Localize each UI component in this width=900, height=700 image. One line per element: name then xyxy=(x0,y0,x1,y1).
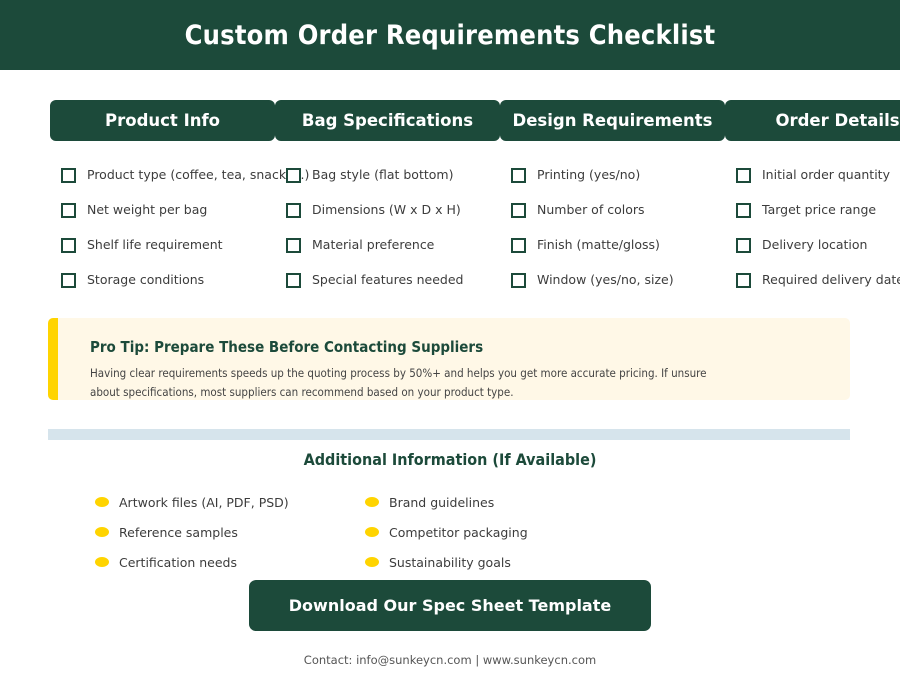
checkbox-icon[interactable] xyxy=(511,273,526,288)
column-header-design-requirements: Design Requirements xyxy=(500,100,725,141)
column-header-product-info: Product Info xyxy=(50,100,275,141)
checkbox-icon[interactable] xyxy=(61,273,76,288)
checklist-item[interactable]: Finish (matte/gloss) xyxy=(500,237,725,253)
list-item[interactable]: Reference samples xyxy=(95,517,365,547)
list-item-label: Certification needs xyxy=(119,555,237,570)
checklist-item-label: Dimensions (W x D x H) xyxy=(312,202,461,218)
bullet-dot-icon xyxy=(95,497,109,507)
bullet-dot-icon xyxy=(365,527,379,537)
pro-tip-accent-bar xyxy=(48,318,58,400)
checkbox-icon[interactable] xyxy=(286,273,301,288)
checklist-item[interactable]: Target price range xyxy=(725,202,900,218)
list-item-label: Reference samples xyxy=(119,525,238,540)
checklist-item-label: Printing (yes/no) xyxy=(537,167,640,183)
checklist-item[interactable]: Dimensions (W x D x H) xyxy=(275,202,500,218)
checkbox-icon[interactable] xyxy=(736,168,751,183)
checklist-item[interactable]: Window (yes/no, size) xyxy=(500,272,725,288)
bullet-dot-icon xyxy=(95,527,109,537)
column-items-design-requirements: Printing (yes/no) Number of colors Finis… xyxy=(500,167,725,288)
checklist-item-label: Required delivery date xyxy=(762,272,900,288)
checklist-item-label: Shelf life requirement xyxy=(87,237,223,253)
page-title: Custom Order Requirements Checklist xyxy=(185,20,716,51)
bullet-dot-icon xyxy=(95,557,109,567)
checklist-item[interactable]: Printing (yes/no) xyxy=(500,167,725,183)
list-item[interactable]: Artwork files (AI, PDF, PSD) xyxy=(95,487,365,517)
checkbox-icon[interactable] xyxy=(61,203,76,218)
checklist-item-label: Target price range xyxy=(762,202,876,218)
checkbox-icon[interactable] xyxy=(511,168,526,183)
checklist-item-label: Material preference xyxy=(312,237,434,253)
checkbox-icon[interactable] xyxy=(736,203,751,218)
section-divider xyxy=(48,429,850,440)
checklist-item-label: Delivery location xyxy=(762,237,867,253)
bullet-dot-icon xyxy=(365,497,379,507)
checkbox-icon[interactable] xyxy=(511,203,526,218)
column-items-bag-specifications: Bag style (flat bottom) Dimensions (W x … xyxy=(275,167,500,288)
column-items-order-details: Initial order quantity Target price rang… xyxy=(725,167,900,288)
checkbox-icon[interactable] xyxy=(286,168,301,183)
list-item[interactable]: Competitor packaging xyxy=(365,517,635,547)
pro-tip-body: Having clear requirements speeds up the … xyxy=(90,364,710,402)
checklist-item-label: Special features needed xyxy=(312,272,464,288)
checklist-item[interactable]: Net weight per bag xyxy=(50,202,275,218)
checkbox-icon[interactable] xyxy=(736,273,751,288)
pro-tip-title: Pro Tip: Prepare These Before Contacting… xyxy=(90,338,483,356)
list-item-label: Brand guidelines xyxy=(389,495,494,510)
checklist-item[interactable]: Shelf life requirement xyxy=(50,237,275,253)
column-header-bag-specifications: Bag Specifications xyxy=(275,100,500,141)
additional-info-grid: Artwork files (AI, PDF, PSD) Brand guide… xyxy=(95,487,855,577)
checkbox-icon[interactable] xyxy=(286,238,301,253)
checklist-column-design-requirements: Design Requirements Printing (yes/no) Nu… xyxy=(500,100,725,307)
checklist-column-bag-specifications: Bag Specifications Bag style (flat botto… xyxy=(275,100,500,307)
list-item[interactable]: Certification needs xyxy=(95,547,365,577)
list-item[interactable]: Brand guidelines xyxy=(365,487,635,517)
footer-contact: Contact: info@sunkeycn.com | www.sunkeyc… xyxy=(0,653,900,667)
checkbox-icon[interactable] xyxy=(61,238,76,253)
checklist-item-label: Storage conditions xyxy=(87,272,204,288)
column-header-order-details: Order Details xyxy=(725,100,900,141)
checklist-item-label: Finish (matte/gloss) xyxy=(537,237,660,253)
checklist-item[interactable]: Delivery location xyxy=(725,237,900,253)
checklist-column-order-details: Order Details Initial order quantity Tar… xyxy=(725,100,900,307)
checklist-item[interactable]: Special features needed xyxy=(275,272,500,288)
checklist-column-product-info: Product Info Product type (coffee, tea, … xyxy=(50,100,275,307)
checkbox-icon[interactable] xyxy=(736,238,751,253)
checklist-item[interactable]: Storage conditions xyxy=(50,272,275,288)
download-spec-sheet-button[interactable]: Download Our Spec Sheet Template xyxy=(249,580,651,631)
header-banner: Custom Order Requirements Checklist xyxy=(0,0,900,70)
checklist-item[interactable]: Product type (coffee, tea, snacks...) xyxy=(50,167,275,183)
checklist-item-label: Net weight per bag xyxy=(87,202,207,218)
pro-tip-callout: Pro Tip: Prepare These Before Contacting… xyxy=(48,318,850,400)
list-item-label: Competitor packaging xyxy=(389,525,528,540)
checklist-item-label: Number of colors xyxy=(537,202,645,218)
checklist-item[interactable]: Required delivery date xyxy=(725,272,900,288)
checklist-item[interactable]: Bag style (flat bottom) xyxy=(275,167,500,183)
checklist-item-label: Window (yes/no, size) xyxy=(537,272,674,288)
checkbox-icon[interactable] xyxy=(286,203,301,218)
checklist-grid: Product Info Product type (coffee, tea, … xyxy=(50,100,900,307)
checklist-item[interactable]: Number of colors xyxy=(500,202,725,218)
checkbox-icon[interactable] xyxy=(511,238,526,253)
checklist-item[interactable]: Material preference xyxy=(275,237,500,253)
bullet-dot-icon xyxy=(365,557,379,567)
checkbox-icon[interactable] xyxy=(61,168,76,183)
checklist-item-label: Initial order quantity xyxy=(762,167,890,183)
list-item-label: Sustainability goals xyxy=(389,555,511,570)
list-item[interactable]: Sustainability goals xyxy=(365,547,635,577)
checklist-item-label: Bag style (flat bottom) xyxy=(312,167,453,183)
column-items-product-info: Product type (coffee, tea, snacks...) Ne… xyxy=(50,167,275,288)
additional-info-title: Additional Information (If Available) xyxy=(0,450,900,469)
list-item-label: Artwork files (AI, PDF, PSD) xyxy=(119,495,289,510)
checklist-item[interactable]: Initial order quantity xyxy=(725,167,900,183)
